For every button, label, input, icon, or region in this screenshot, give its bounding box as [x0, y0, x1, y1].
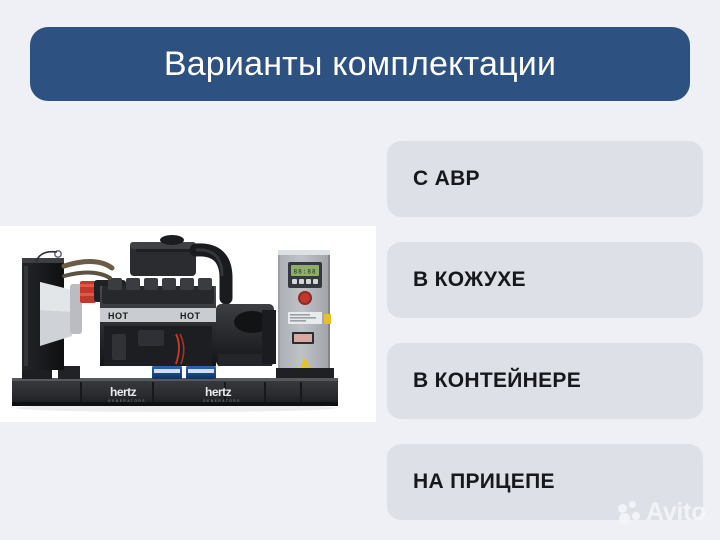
option-label: С АВР	[413, 167, 480, 191]
avito-wordmark: Avito	[646, 500, 706, 525]
listing-image-canvas: Варианты комплектации	[0, 0, 720, 540]
avito-logo-icon	[618, 501, 644, 525]
svg-text:88:88: 88:88	[294, 269, 317, 276]
product-photo: hertz GENERATORS hertz GENERATORS	[0, 226, 376, 422]
svg-text:GENERATORS: GENERATORS	[108, 399, 146, 403]
avito-watermark: Avito	[618, 500, 706, 525]
svg-text:GENERATORS: GENERATORS	[203, 399, 241, 403]
option-label: В КОЖУХЕ	[413, 268, 526, 292]
option-label: В КОНТЕЙНЕРЕ	[413, 369, 581, 393]
option-label: НА ПРИЦЕПЕ	[413, 470, 555, 494]
svg-text:hertz: hertz	[205, 385, 232, 399]
option-card-s-avr[interactable]: С АВР	[387, 141, 703, 217]
header-banner: Варианты комплектации	[30, 27, 690, 101]
diesel-generator-illustration: hertz GENERATORS hertz GENERATORS	[0, 226, 376, 422]
svg-text:HOT: HOT	[180, 311, 201, 321]
svg-text:HOT: HOT	[108, 311, 129, 321]
svg-text:hertz: hertz	[110, 385, 137, 399]
option-card-v-konteynere[interactable]: В КОНТЕЙНЕРЕ	[387, 343, 703, 419]
option-card-v-kozhuhe[interactable]: В КОЖУХЕ	[387, 242, 703, 318]
page-title: Варианты комплектации	[164, 47, 556, 81]
